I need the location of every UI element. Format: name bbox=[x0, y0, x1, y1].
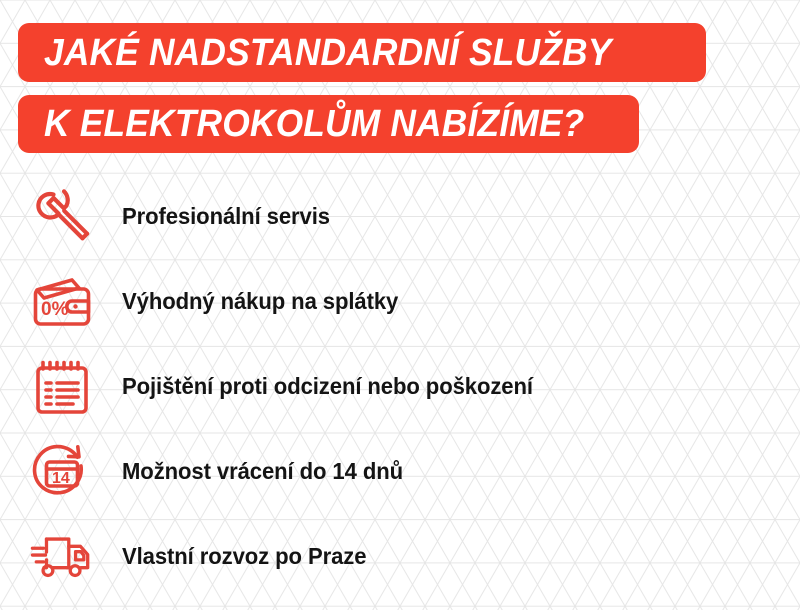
benefit-label: Výhodný nákup na splátky bbox=[122, 290, 398, 313]
list-item: Vlastní rozvoz po Praze bbox=[0, 514, 800, 599]
list-item: 14 Možnost vrácení do 14 dnů bbox=[0, 429, 800, 514]
wallet-zero-percent-icon: 0% bbox=[30, 273, 94, 331]
headline-line2-text: K ELEKTROKOLŮM NABÍZÍME? bbox=[44, 105, 584, 143]
headline-bar-line1: JAKÉ NADSTANDARDNÍ SLUŽBY bbox=[18, 23, 706, 82]
benefit-label: Pojištění proti odcizení nebo poškození bbox=[122, 375, 533, 398]
promo-poster: JAKÉ NADSTANDARDNÍ SLUŽBY K ELEKTROKOLŮM… bbox=[0, 0, 800, 610]
return-icon-text: 14 bbox=[52, 470, 70, 487]
list-item: Profesionální servis bbox=[0, 174, 800, 259]
notepad-list-icon bbox=[30, 358, 94, 416]
benefit-label: Vlastní rozvoz po Praze bbox=[122, 545, 366, 568]
wallet-icon-text: 0% bbox=[41, 299, 69, 320]
headline-line1-text: JAKÉ NADSTANDARDNÍ SLUŽBY bbox=[44, 34, 611, 72]
list-item: Pojištění proti odcizení nebo poškození bbox=[0, 344, 800, 429]
list-item: 0% Výhodný nákup na splátky bbox=[0, 259, 800, 344]
benefits-list: Profesionální servis 0% Výhodný nákup na… bbox=[0, 174, 800, 599]
headline-bar-line2: K ELEKTROKOLŮM NABÍZÍME? bbox=[18, 95, 639, 153]
benefit-label: Profesionální servis bbox=[122, 205, 330, 228]
return-14-days-icon: 14 bbox=[30, 443, 94, 501]
delivery-truck-icon bbox=[30, 528, 94, 586]
benefit-label: Možnost vrácení do 14 dnů bbox=[122, 460, 403, 483]
wrench-icon bbox=[30, 188, 94, 246]
